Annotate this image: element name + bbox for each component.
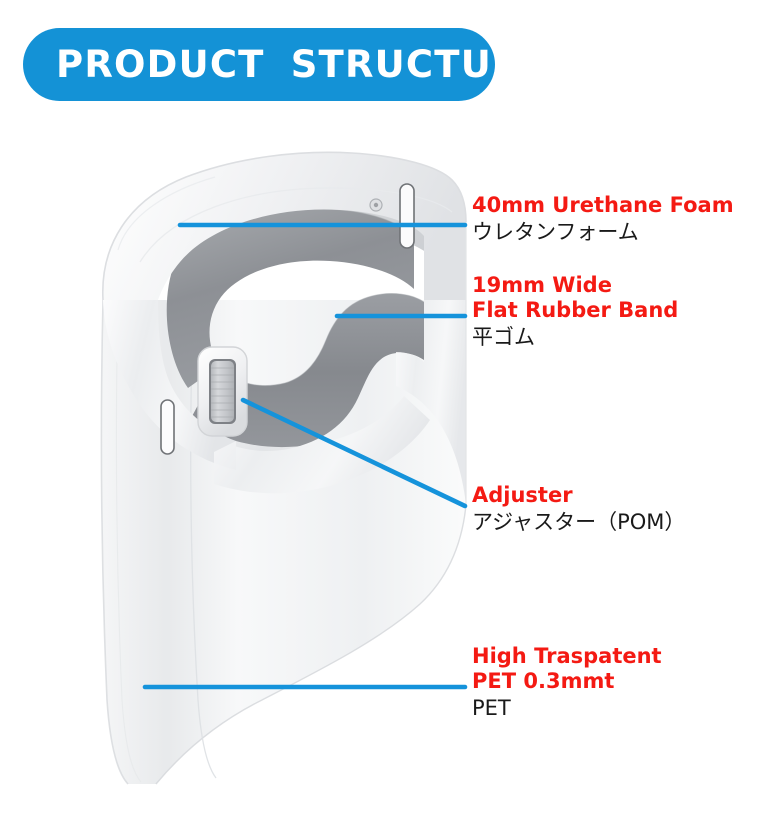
callout-rubber-en-line1: 19mm Wide <box>472 273 678 298</box>
callout-urethane-foam: 40mm Urethane Foam ウレタンフォーム <box>472 193 734 246</box>
callout-adjuster: Adjuster アジャスター（POM） <box>472 483 685 536</box>
callout-adjuster-en: Adjuster <box>472 483 685 508</box>
band-slot-right <box>400 184 414 248</box>
adjuster-buckle[interactable] <box>198 347 247 436</box>
callout-pet-en-line1: High Traspatent <box>472 644 662 669</box>
rivet <box>370 199 382 211</box>
callout-foam-jp: ウレタンフォーム <box>472 218 734 246</box>
callout-rubber-jp: 平ゴム <box>472 323 678 351</box>
callout-pet-visor: High Traspatent PET 0.3mmt PET <box>472 644 662 722</box>
band-slot-left <box>161 400 174 454</box>
callout-foam-en: 40mm Urethane Foam <box>472 193 734 218</box>
callout-pet-en-line2: PET 0.3mmt <box>472 669 662 694</box>
callout-pet-jp: PET <box>472 694 662 722</box>
callout-adjuster-jp: アジャスター（POM） <box>472 508 685 536</box>
callout-flat-rubber-band: 19mm Wide Flat Rubber Band 平ゴム <box>472 273 678 351</box>
callout-rubber-en-line2: Flat Rubber Band <box>472 298 678 323</box>
